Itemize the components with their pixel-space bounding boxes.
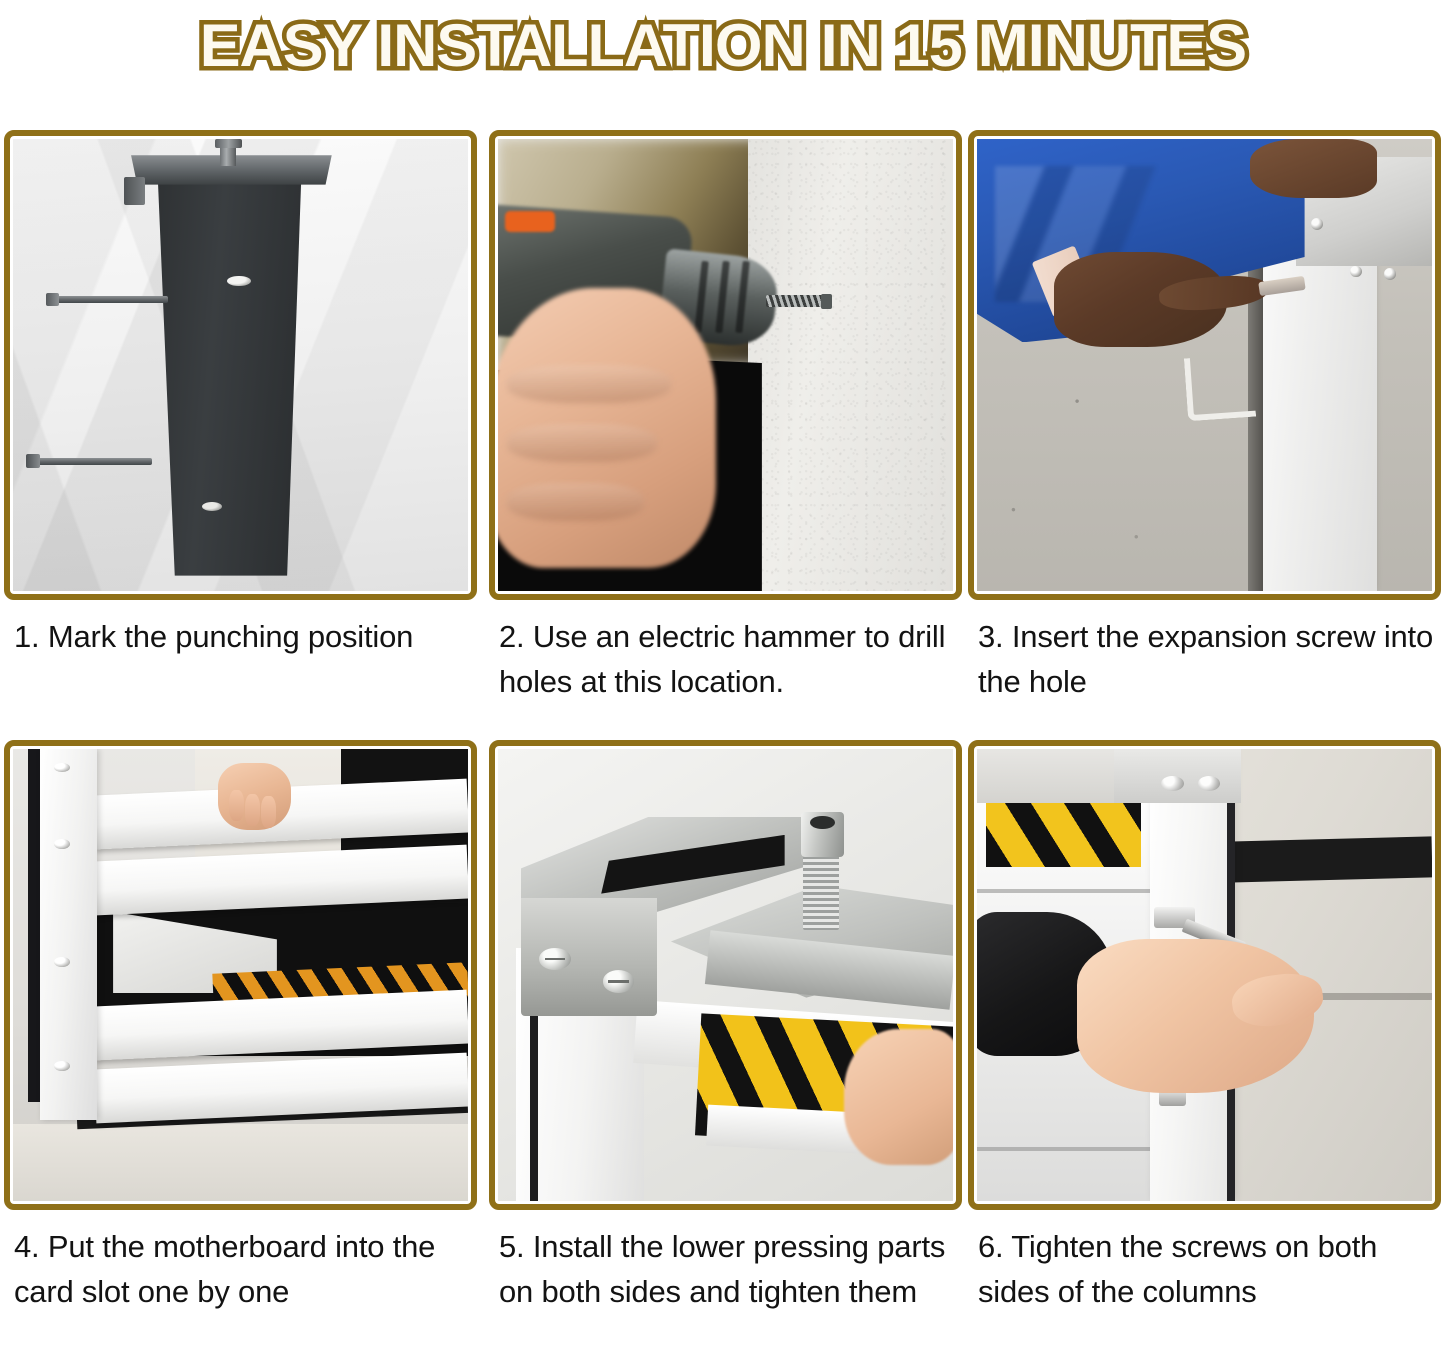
- bracket-screw: [539, 948, 571, 971]
- lower-side-bolt: [29, 458, 152, 465]
- steps-row-bottom: 4. Put the motherboard into the card slo…: [0, 740, 1445, 1350]
- step-photo-3: [977, 139, 1432, 591]
- step-photo-1: [13, 139, 468, 591]
- drill-trigger: [505, 211, 555, 231]
- hand-finger: [261, 796, 276, 828]
- upper-side-bolt: [49, 296, 167, 303]
- dark-column-post: [154, 160, 302, 576]
- white-wall: [748, 139, 953, 591]
- column-dark-edge: [28, 749, 42, 1102]
- step-photo-frame-6: [968, 740, 1441, 1210]
- upper-side-bolt-head: [46, 293, 60, 306]
- floor-surface: [13, 1124, 468, 1201]
- plate-screw: [1384, 268, 1396, 280]
- step-photo-frame-5: [489, 740, 962, 1210]
- lower-side-bolt-head: [26, 454, 41, 468]
- upper-hand: [1250, 139, 1377, 198]
- step-caption-6: 6. Tighten the screws on both sides of t…: [968, 1224, 1441, 1314]
- column-screw: [54, 1061, 70, 1071]
- step-photo-5: [498, 749, 953, 1201]
- post-cap-side-tab: [124, 177, 144, 205]
- upper-punch-mark-hole: [227, 276, 251, 286]
- step-caption-5: 5. Install the lower pressing parts on b…: [489, 1224, 962, 1314]
- column-screw: [54, 957, 70, 967]
- step-caption-4: 4. Put the motherboard into the card slo…: [4, 1224, 477, 1314]
- step-caption-2: 2. Use an electric hammer to drill holes…: [489, 614, 962, 704]
- top-bolt-head: [215, 139, 242, 148]
- hand-finger: [507, 483, 644, 521]
- step-card-4: 4. Put the motherboard into the card slo…: [4, 740, 477, 1350]
- step-caption-3: 3. Insert the expansion screw into the h…: [968, 614, 1441, 704]
- lower-punch-mark-hole: [202, 502, 222, 511]
- step-photo-4: [13, 749, 468, 1201]
- wall-texture: [748, 139, 953, 591]
- drill-bit: [766, 295, 825, 307]
- hex-bolt-shaft: [803, 853, 839, 930]
- page-title: EASY INSTALLATION IN 15 MINUTES: [199, 16, 1245, 76]
- infographic-sheet: EASY INSTALLATION IN 15 MINUTES: [0, 0, 1445, 1352]
- step-card-1: 1. Mark the punching position: [4, 130, 477, 740]
- steps-row-top: 1. Mark the punching position: [0, 130, 1445, 740]
- allen-key: [1184, 354, 1256, 422]
- step-card-5: 5. Install the lower pressing parts on b…: [489, 740, 962, 1350]
- step-photo-2: [498, 139, 953, 591]
- steps-grid: 1. Mark the punching position: [0, 92, 1445, 1352]
- step-card-6: 6. Tighten the screws on both sides of t…: [968, 740, 1441, 1350]
- title-bar: EASY INSTALLATION IN 15 MINUTES: [0, 0, 1445, 92]
- plate-screw: [1350, 266, 1362, 278]
- panel-seam: [977, 889, 1159, 893]
- panel-seam: [977, 1147, 1159, 1151]
- step-card-2: 2. Use an electric hammer to drill holes…: [489, 130, 962, 740]
- hand-finger: [507, 365, 671, 403]
- wall-skirting: [1227, 837, 1432, 883]
- hand-finger: [229, 790, 244, 822]
- installer-hand: [844, 1029, 953, 1165]
- step-caption-1: 1. Mark the punching position: [4, 614, 477, 659]
- step-photo-6: [977, 749, 1432, 1201]
- step-photo-frame-1: [4, 130, 477, 600]
- step-photo-frame-2: [489, 130, 962, 600]
- drill-bit-tip: [821, 294, 832, 309]
- hand-finger: [245, 794, 260, 826]
- step-photo-frame-3: [968, 130, 1441, 600]
- hazard-stripe-board: [986, 803, 1141, 866]
- hand-finger: [507, 424, 657, 462]
- step-photo-frame-4: [4, 740, 477, 1210]
- step-card-3: 3. Insert the expansion screw into the h…: [968, 130, 1441, 740]
